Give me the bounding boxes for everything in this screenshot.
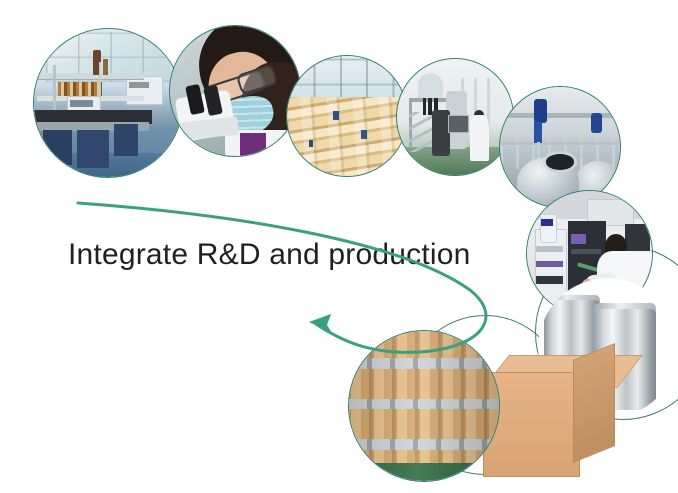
- steel-reactors-photo: [500, 87, 620, 207]
- node-raw-material-sacks[interactable]: [286, 55, 408, 177]
- microscope-research-photo: [170, 26, 300, 156]
- flow-arrow-head: [309, 314, 332, 333]
- extraction-equipment-photo: [397, 59, 513, 175]
- node-fiber-drums[interactable]: [348, 330, 500, 482]
- page-title: Integrate R&D and production: [68, 238, 471, 271]
- promo-banner: Integrate R&D and production: [0, 0, 678, 493]
- raw-material-sacks-photo: [287, 56, 407, 176]
- node-lab-facility[interactable]: [33, 28, 183, 178]
- lab-facility-photo: [34, 29, 182, 177]
- carton-side-face: [573, 343, 615, 463]
- carton-box: [483, 355, 615, 475]
- node-steel-reactors[interactable]: [499, 86, 621, 208]
- node-extraction-equipment[interactable]: [396, 58, 514, 176]
- node-microscope-research[interactable]: [169, 25, 301, 157]
- fiber-drums-photo: [349, 331, 499, 481]
